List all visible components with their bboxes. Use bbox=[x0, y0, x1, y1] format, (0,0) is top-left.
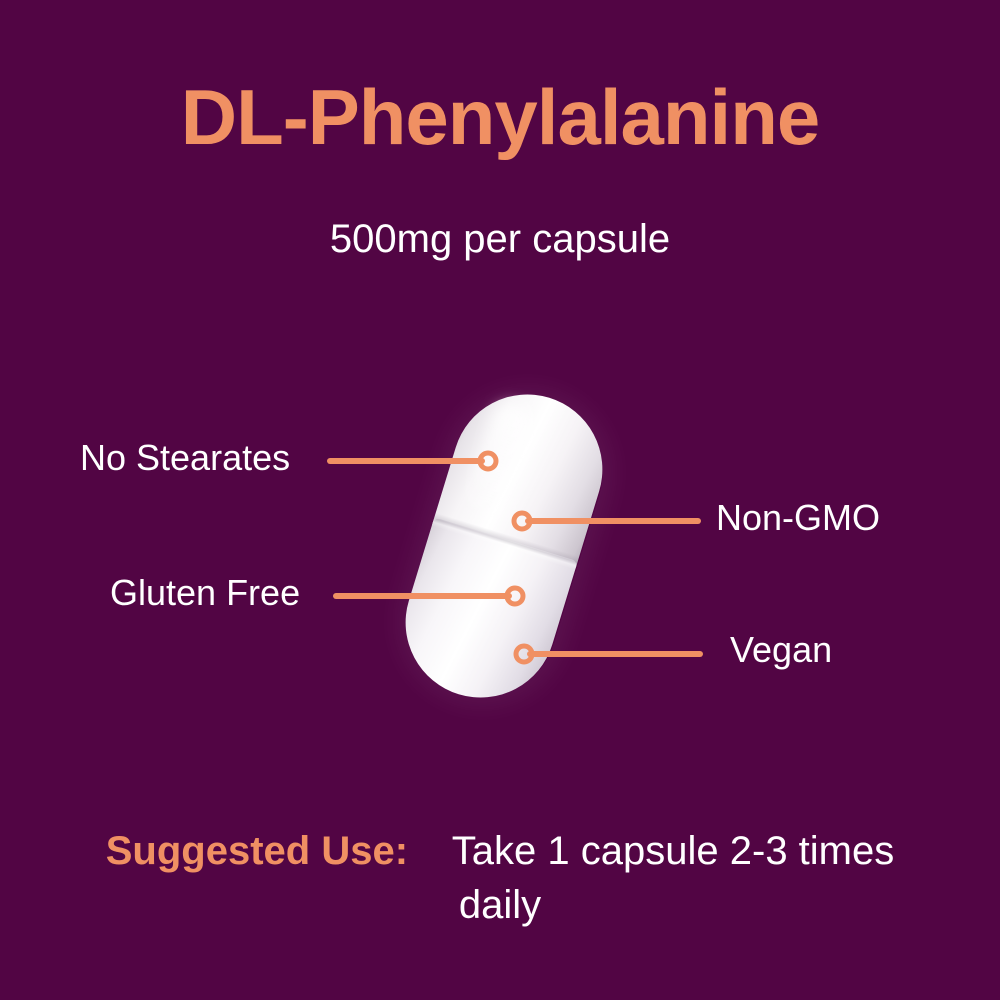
feature-label-vegan: Vegan bbox=[730, 632, 832, 668]
suggested-use-text: Take 1 capsule 2-3 times daily bbox=[452, 829, 894, 927]
callout-marker-2 bbox=[507, 588, 523, 604]
suggested-use-block: Suggested Use: Take 1 capsule 2-3 times … bbox=[60, 824, 940, 932]
feature-label-no-stearates: No Stearates bbox=[80, 440, 290, 476]
feature-label-gluten-free: Gluten Free bbox=[110, 575, 300, 611]
callout-marker-1 bbox=[514, 513, 530, 529]
feature-label-non-gmo: Non-GMO bbox=[716, 500, 880, 536]
suggested-use-heading: Suggested Use: bbox=[106, 829, 408, 873]
callout-marker-0 bbox=[480, 453, 496, 469]
callout-marker-3 bbox=[516, 646, 532, 662]
product-infographic: DL-Phenylalanine 500mg per capsule No St… bbox=[0, 0, 1000, 1000]
